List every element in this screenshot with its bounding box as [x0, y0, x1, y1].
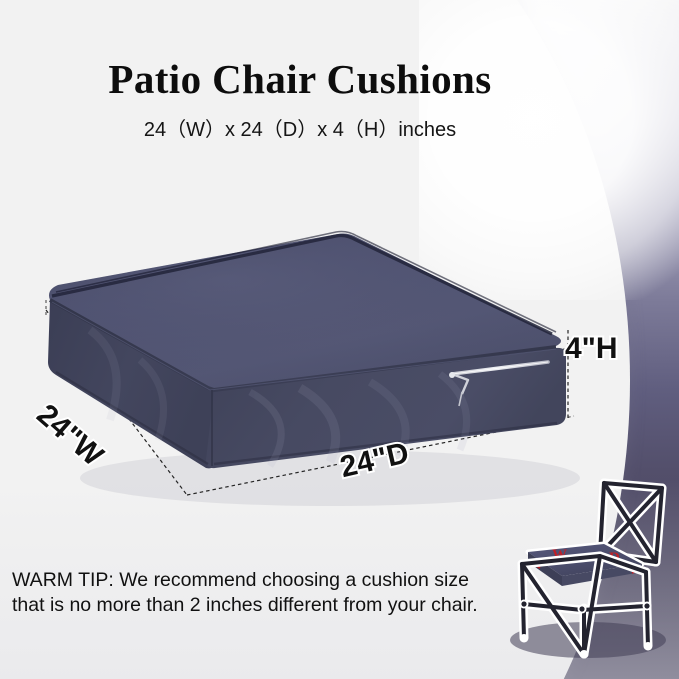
warm-tip-text: WARM TIP: We recommend choosing a cushio…: [12, 568, 482, 618]
product-infographic: Patio Chair Cushions 24（W）x 24（D）x 4（H）i…: [0, 0, 679, 679]
page-subtitle: 24（W）x 24（D）x 4（H）inches: [0, 113, 600, 142]
background-glow: [419, 0, 679, 300]
dimension-label-height: 4"H: [565, 332, 618, 366]
chair-diagram: W D: [496, 458, 679, 679]
page-title: Patio Chair Cushions: [0, 55, 600, 103]
